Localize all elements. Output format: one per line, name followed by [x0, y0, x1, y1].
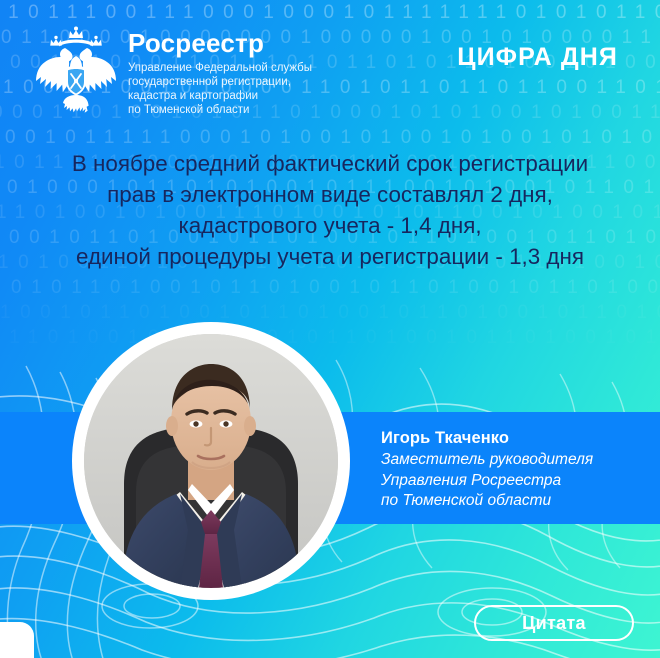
quote-button[interactable]: Цитата [474, 605, 634, 641]
speaker-role-line: по Тюменской области [381, 491, 656, 512]
rosreestr-logo: Росреестр Управление Федеральной службы … [34, 26, 312, 118]
binary-row: 0110100101101001011010010110100101101 [0, 325, 660, 350]
double-headed-eagle-icon [34, 26, 118, 118]
headline-text: В ноябре средний фактический срок регист… [0, 148, 660, 272]
logo-title: Росреестр [128, 30, 312, 56]
speaker-role-line: Управления Росреестра [381, 471, 656, 492]
logo-subtitle-line: Управление Федеральной службы [128, 61, 312, 75]
speaker-name: Игорь Ткаченко [381, 428, 656, 449]
figure-of-the-day-label: ЦИФРА ДНЯ [457, 43, 618, 72]
corner-notch [0, 622, 34, 658]
headline-line: единой процедуры учета и регистрации - 1… [0, 241, 660, 272]
binary-row: 0010111110001010010100101001010100110 [5, 125, 660, 150]
quote-button-label: Цитата [522, 613, 586, 634]
binary-row: 0101101001011010010110100101101001011 [11, 275, 660, 300]
portrait-photo [84, 334, 338, 588]
infographic-card: 0101110011100010001011111110101011011011… [0, 0, 660, 658]
logo-subtitle: Управление Федеральной службы государств… [128, 61, 312, 117]
binary-row: 0101110011100010001011111110101011011 [0, 0, 660, 25]
logo-subtitle-line: по Тюменской области [128, 103, 312, 117]
headline-line: прав в электронном виде составлял 2 дня, [0, 179, 660, 210]
logo-subtitle-line: государственной регистрации, [128, 75, 312, 89]
binary-row: 1001011010010110100101101001011010010 [0, 300, 660, 325]
binary-row: 0101110011100010001011111110101011011 [2, 350, 660, 368]
headline-line: кадастрового учета - 1,4 дня, [0, 210, 660, 241]
logo-subtitle-line: кадастра и картографии [128, 89, 312, 103]
speaker-role: Заместитель руководителя Управления Роср… [381, 450, 656, 512]
speaker-role-line: Заместитель руководителя [381, 450, 656, 471]
speaker-info: Игорь Ткаченко Заместитель руководителя … [381, 428, 656, 512]
portrait-ring [72, 322, 350, 600]
headline-line: В ноябре средний фактический срок регист… [0, 148, 660, 179]
